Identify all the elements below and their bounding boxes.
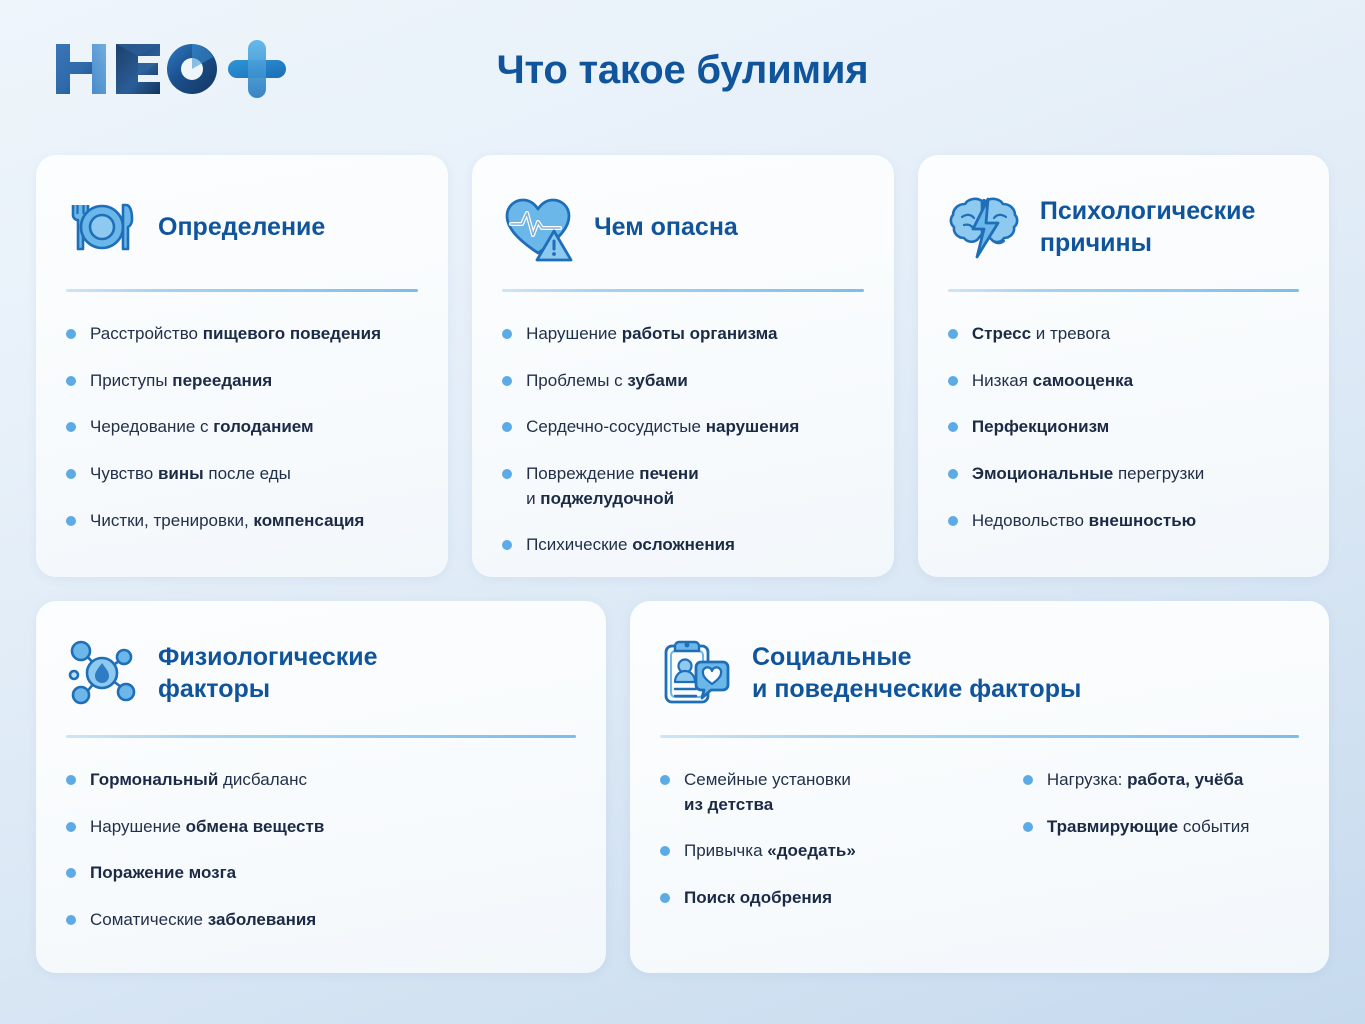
bullet-dot-icon — [66, 915, 76, 925]
bullet-list: Стресс и тревогаНизкая самооценкаПерфекц… — [948, 322, 1299, 533]
bullet-text: Низкая самооценка — [972, 369, 1133, 394]
bullet-dot-icon — [66, 469, 76, 479]
bullet-column-left: Семейные установкииз детстваПривычка «до… — [660, 768, 973, 911]
bullet-item: Эмоциональные перегрузки — [948, 462, 1299, 487]
bullet-dot-icon — [66, 775, 76, 785]
bullet-dot-icon — [502, 422, 512, 432]
bullet-dot-icon — [502, 376, 512, 386]
bullet-item: Недовольство внешностью — [948, 509, 1299, 534]
bullet-dot-icon — [502, 329, 512, 339]
bullet-item: Чувство вины после еды — [66, 462, 418, 487]
bullet-text: Поражение мозга — [90, 861, 236, 886]
bullet-item: Травмирующие события — [1023, 815, 1299, 840]
card-danger: Чем опасна Нарушение работы организмаПро… — [472, 155, 894, 577]
bullet-item: Чередование с голоданием — [66, 415, 418, 440]
bullet-dot-icon — [948, 516, 958, 526]
card-title: Чем опасна — [594, 211, 738, 244]
card-divider — [948, 289, 1299, 292]
bullet-text: Проблемы с зубами — [526, 369, 688, 394]
bullet-item: Стресс и тревога — [948, 322, 1299, 347]
bullet-text: Нагрузка: работа, учёба — [1047, 768, 1243, 793]
bullet-dot-icon — [948, 329, 958, 339]
bullet-text: Травмирующие события — [1047, 815, 1250, 840]
bullet-dot-icon — [660, 893, 670, 903]
bullet-dot-icon — [502, 540, 512, 550]
bullet-text: Расстройство пищевого поведения — [90, 322, 381, 347]
bullet-text: Чувство вины после еды — [90, 462, 291, 487]
card-divider — [66, 735, 576, 738]
bullet-text: Чистки, тренировки, компенсация — [90, 509, 364, 534]
card-header: Определение — [66, 181, 418, 273]
card-social: Социальныеи поведенческие факторы Семейн… — [630, 601, 1329, 973]
bullet-columns: Семейные установкииз детстваПривычка «до… — [660, 768, 1299, 911]
bullet-item: Поражение мозга — [66, 861, 576, 886]
bullet-text: Гормональный дисбаланс — [90, 768, 307, 793]
card-header: Социальныеи поведенческие факторы — [660, 627, 1299, 719]
bullet-dot-icon — [66, 868, 76, 878]
heart-pulse-warning-icon — [502, 191, 574, 263]
bullet-item: Психические осложнения — [502, 533, 864, 558]
bullet-text: Сердечно-сосудистые нарушения — [526, 415, 799, 440]
cards-row-top: Определение Расстройство пищевого поведе… — [36, 155, 1329, 577]
bullet-dot-icon — [1023, 822, 1033, 832]
page-header: Что такое булимия — [0, 0, 1365, 140]
bullet-list: Гормональный дисбалансНарушение обмена в… — [66, 768, 576, 933]
bullet-item: Повреждение печении поджелудочной — [502, 462, 864, 511]
bullet-list: Нагрузка: работа, учёбаТравмирующие собы… — [1023, 768, 1299, 839]
card-divider — [502, 289, 864, 292]
bullet-list: Семейные установкииз детстваПривычка «до… — [660, 768, 973, 911]
bullet-item: Нагрузка: работа, учёба — [1023, 768, 1299, 793]
bullet-text: Соматические заболевания — [90, 908, 316, 933]
bullet-dot-icon — [948, 422, 958, 432]
bullet-dot-icon — [66, 516, 76, 526]
bullet-dot-icon — [66, 329, 76, 339]
card-psychological: Психологическиепричины Стресс и тревогаН… — [918, 155, 1329, 577]
card-title: Физиологическиефакторы — [158, 641, 378, 706]
bullet-item: Расстройство пищевого поведения — [66, 322, 418, 347]
bullet-item: Нарушение работы организма — [502, 322, 864, 347]
bullet-item: Чистки, тренировки, компенсация — [66, 509, 418, 534]
card-header: Чем опасна — [502, 181, 864, 273]
bullet-item: Семейные установкииз детства — [660, 768, 973, 817]
bullet-dot-icon — [1023, 775, 1033, 785]
cards-row-bottom: Физиологическиефакторы Гормональный дисб… — [36, 601, 1329, 973]
bullet-list: Расстройство пищевого поведенияПриступы … — [66, 322, 418, 533]
bullet-dot-icon — [66, 422, 76, 432]
bullet-list: Нарушение работы организмаПроблемы с зуб… — [502, 322, 864, 558]
bullet-dot-icon — [660, 846, 670, 856]
card-divider — [660, 735, 1299, 738]
cards-grid: Определение Расстройство пищевого поведе… — [36, 155, 1329, 973]
bullet-text: Перфекционизм — [972, 415, 1109, 440]
bullet-item: Нарушение обмена веществ — [66, 815, 576, 840]
clipboard-heart-chat-icon — [660, 637, 732, 709]
molecule-droplet-icon — [66, 637, 138, 709]
bullet-item: Поиск одобрения — [660, 886, 973, 911]
bullet-text: Нарушение работы организма — [526, 322, 777, 347]
bullet-item: Привычка «доедать» — [660, 839, 973, 864]
bullet-item: Проблемы с зубами — [502, 369, 864, 394]
bullet-text: Привычка «доедать» — [684, 839, 856, 864]
card-title: Социальныеи поведенческие факторы — [752, 641, 1081, 706]
bullet-item: Низкая самооценка — [948, 369, 1299, 394]
bullet-dot-icon — [948, 469, 958, 479]
card-definition: Определение Расстройство пищевого поведе… — [36, 155, 448, 577]
bullet-item: Приступы переедания — [66, 369, 418, 394]
bullet-text: Поиск одобрения — [684, 886, 832, 911]
bullet-text: Семейные установкииз детства — [684, 768, 851, 817]
plate-fork-knife-icon — [66, 191, 138, 263]
bullet-dot-icon — [66, 376, 76, 386]
page-title: Что такое булимия — [0, 48, 1365, 93]
bullet-text: Нарушение обмена веществ — [90, 815, 324, 840]
bullet-item: Перфекционизм — [948, 415, 1299, 440]
bullet-text: Повреждение печении поджелудочной — [526, 462, 699, 511]
bullet-column-right: Нагрузка: работа, учёбаТравмирующие собы… — [1023, 768, 1299, 911]
bullet-item: Соматические заболевания — [66, 908, 576, 933]
bullet-text: Эмоциональные перегрузки — [972, 462, 1204, 487]
card-divider — [66, 289, 418, 292]
bullet-text: Психические осложнения — [526, 533, 735, 558]
brain-lightning-icon — [948, 191, 1020, 263]
bullet-text: Стресс и тревога — [972, 322, 1110, 347]
bullet-item: Сердечно-сосудистые нарушения — [502, 415, 864, 440]
bullet-dot-icon — [660, 775, 670, 785]
bullet-dot-icon — [66, 822, 76, 832]
bullet-item: Гормональный дисбаланс — [66, 768, 576, 793]
bullet-dot-icon — [502, 469, 512, 479]
card-header: Психологическиепричины — [948, 181, 1299, 273]
bullet-text: Недовольство внешностью — [972, 509, 1196, 534]
bullet-dot-icon — [948, 376, 958, 386]
card-header: Физиологическиефакторы — [66, 627, 576, 719]
card-physiological: Физиологическиефакторы Гормональный дисб… — [36, 601, 606, 973]
bullet-text: Приступы переедания — [90, 369, 272, 394]
card-title: Психологическиепричины — [1040, 195, 1256, 260]
bullet-text: Чередование с голоданием — [90, 415, 314, 440]
card-title: Определение — [158, 211, 325, 244]
